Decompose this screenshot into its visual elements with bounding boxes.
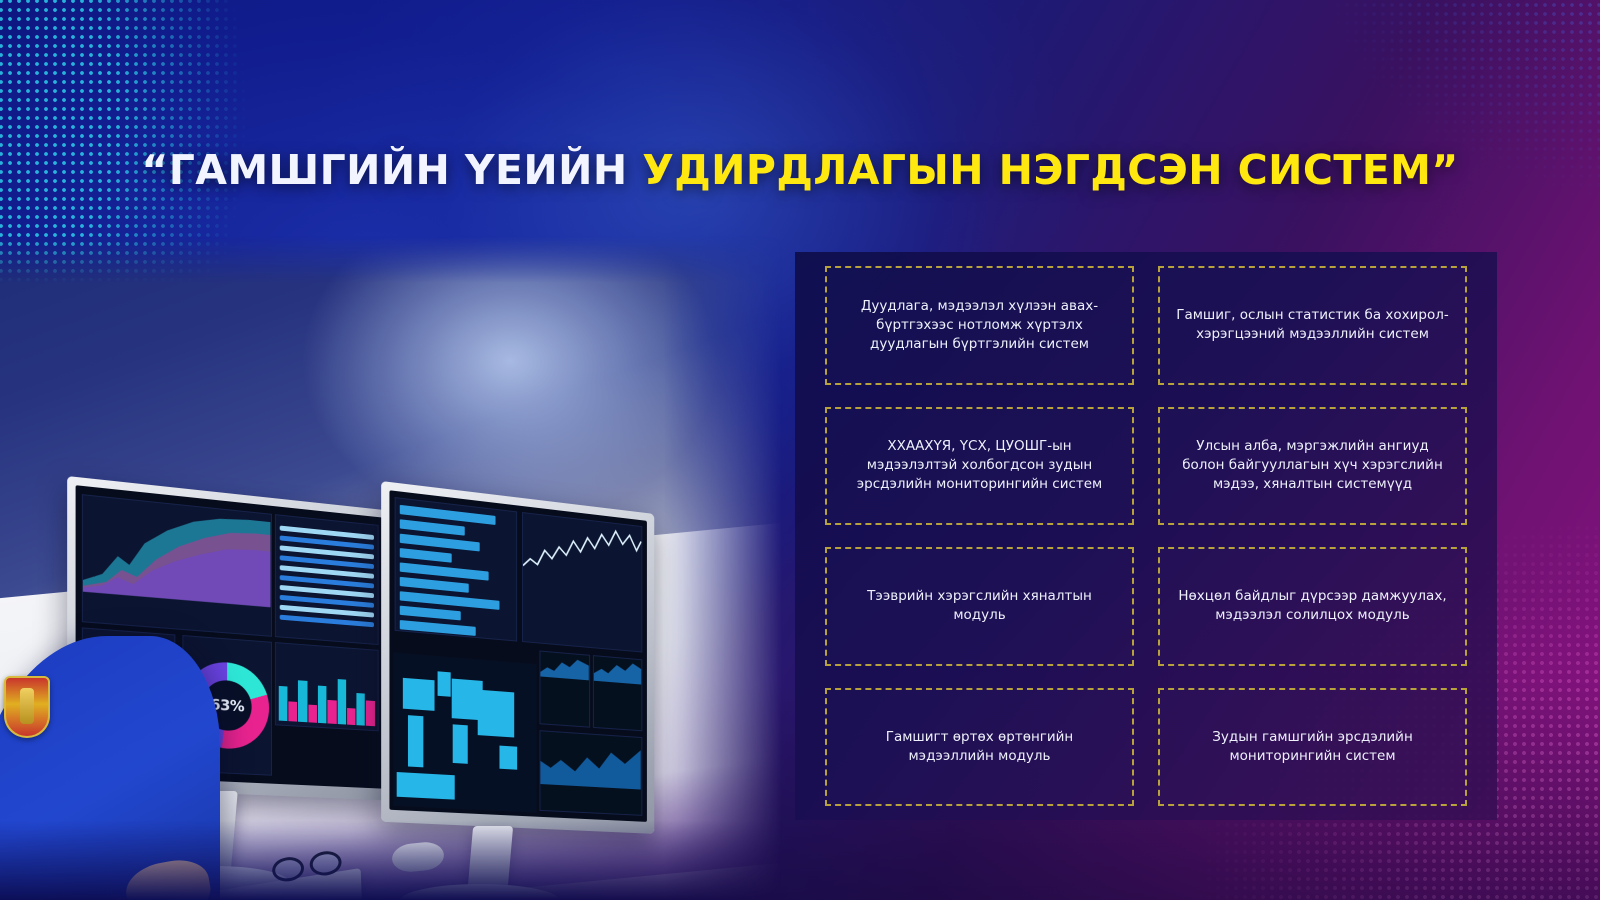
slide-title: “ГАМШГИЙН ҮЕИЙН УДИРДЛАГЫН НЭГДСЭН СИСТЕ… xyxy=(0,148,1600,193)
column-series xyxy=(279,670,375,726)
uniform-badge-icon xyxy=(4,676,50,738)
module-card-8[interactable]: Зудын гамшгийн эрсдэлийн мониторингийн с… xyxy=(1158,688,1467,807)
title-quote-open: “ xyxy=(141,146,168,194)
widget-area-small-1 xyxy=(540,650,590,728)
area-sparkline-icon xyxy=(594,656,641,685)
wall-glow xyxy=(300,236,720,526)
eyeglasses-lens-right xyxy=(308,849,343,878)
widget-line-chart xyxy=(522,512,642,653)
line-chart-icon xyxy=(523,513,641,587)
title-highlight-text: УДИРДЛАГЫН НЭГДСЭН СИСТЕМ xyxy=(642,146,1431,194)
widget-horizontal-bars xyxy=(395,497,517,642)
monitor-right-screen xyxy=(389,490,646,822)
module-card-label: Нөхцөл байдлыг дүрсээр дамжуулах, мэдээл… xyxy=(1174,587,1451,625)
area-chart-icon xyxy=(83,496,270,608)
title-plain-text: ГАМШГИЙН ҮЕИЙН xyxy=(169,146,643,194)
module-card-label: Зудын гамшгийн эрсдэлийн мониторингийн с… xyxy=(1174,728,1451,766)
module-card-2[interactable]: Гамшиг, ослын статистик ба хохирол-хэрэг… xyxy=(1158,266,1467,385)
widget-area-chart xyxy=(82,495,272,637)
horizontal-bar-series xyxy=(400,505,510,642)
module-card-label: Улсын алба, мэргэжлийн ангиуд болон байг… xyxy=(1174,437,1451,494)
module-card-6[interactable]: Нөхцөл байдлыг дүрсээр дамжуулах, мэдээл… xyxy=(1158,547,1467,666)
module-card-1[interactable]: Дуудлага, мэдээлэл хүлээн авах-бүртгэхээ… xyxy=(825,266,1134,385)
workstation-photo: 63% xyxy=(0,236,790,900)
list-rows xyxy=(280,526,374,633)
monitor-right xyxy=(381,481,654,834)
module-card-3[interactable]: ХХААХҮЯ, ҮСХ, ЦУОШГ-ын мэдээлэлтэй холбо… xyxy=(825,407,1134,526)
modules-panel: Дуудлага, мэдээлэл хүлээн авах-бүртгэхээ… xyxy=(795,252,1497,820)
modules-grid: Дуудлага, мэдээлэл хүлээн авах-бүртгэхээ… xyxy=(825,266,1467,806)
widget-area-small-2 xyxy=(593,655,642,732)
module-card-5[interactable]: Тээврийн хэрэгслийн хяналтын модуль xyxy=(825,547,1134,666)
widget-world-map xyxy=(394,653,537,813)
widget-area-wide xyxy=(540,730,642,815)
module-card-4[interactable]: Улсын алба, мэргэжлийн ангиуд болон байг… xyxy=(1158,407,1467,526)
slide-root: “ГАМШГИЙН ҮЕИЙН УДИРДЛАГЫН НЭГДСЭН СИСТЕ… xyxy=(0,0,1600,900)
area-sparkline-icon xyxy=(541,651,589,680)
widget-list-panel xyxy=(275,515,379,645)
title-quote-close: ” xyxy=(1431,146,1458,194)
module-card-label: Гамшигт өртөх өртөнгийн мэдээллийн модул… xyxy=(841,728,1118,766)
module-card-label: Тээврийн хэрэгслийн хяналтын модуль xyxy=(841,587,1118,625)
module-card-label: Дуудлага, мэдээлэл хүлээн авах-бүртгэхээ… xyxy=(841,297,1118,354)
area-sparkline-icon xyxy=(541,731,641,789)
eyeglasses-lens-left xyxy=(270,855,305,884)
widget-column-chart xyxy=(275,642,379,731)
module-card-7[interactable]: Гамшигт өртөх өртөнгийн мэдээллийн модул… xyxy=(825,688,1134,807)
module-card-label: Гамшиг, ослын статистик ба хохирол-хэрэг… xyxy=(1174,306,1451,344)
module-card-label: ХХААХҮЯ, ҮСХ, ЦУОШГ-ын мэдээлэлтэй холбо… xyxy=(841,437,1118,494)
